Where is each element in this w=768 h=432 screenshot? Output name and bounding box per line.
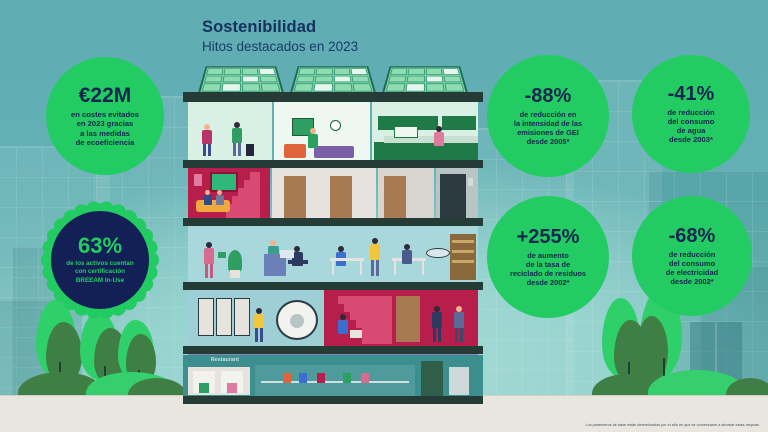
metric-description: de reducción del consumo de electricidad…: [666, 250, 719, 287]
metric-value: +255%: [517, 227, 580, 247]
footnote: Los parámetros de base están determinado…: [586, 423, 760, 427]
badge-description: de los activos cuentan con certificación…: [66, 260, 134, 284]
metric-description: de reducción en la intensidad de las emi…: [514, 110, 582, 146]
restaurant-facade: Restaurant: [183, 355, 483, 396]
floor-residential: [188, 102, 478, 160]
badge-inner-ring: 63% de los activos cuentan con certifica…: [49, 209, 151, 311]
building-cutaway: [188, 92, 478, 396]
metric-description: en costes evitados en 2023 gracias a las…: [71, 110, 139, 147]
floor-office: [188, 226, 478, 282]
metric-value: -41%: [668, 84, 715, 104]
metric-cost-savings[interactable]: €22M en costes evitados en 2023 gracias …: [46, 57, 164, 175]
metric-ghg-intensity[interactable]: -88% de reducción en la intensidad de la…: [487, 55, 609, 177]
metric-value: €22M: [79, 85, 132, 106]
floor-lobby: [188, 168, 478, 218]
metric-waste-recycling[interactable]: +255% de aumento de la tasa de reciclado…: [487, 196, 609, 318]
metric-description: de reducción del consumo de agua desde 2…: [667, 108, 714, 145]
infographic-canvas: Restaurant Sostenibilidad Hitos destacad…: [0, 0, 768, 432]
page-subtitle: Hitos destacados en 2023: [202, 39, 358, 54]
badge-breeam-certification[interactable]: 63% de los activos cuentan con certifica…: [40, 200, 160, 320]
metric-value: -68%: [669, 226, 716, 246]
badge-value: 63%: [78, 235, 122, 257]
metric-water-consumption[interactable]: -41% de reducción del consumo de agua de…: [632, 55, 750, 173]
metric-value: -88%: [525, 86, 572, 106]
page-title-block: Sostenibilidad Hitos destacados en 2023: [202, 18, 358, 54]
restaurant-sign-label: Restaurant: [211, 357, 239, 363]
metric-electricity-consumption[interactable]: -68% de reducción del consumo de electri…: [632, 196, 752, 316]
floor-technical: [188, 290, 478, 346]
page-title: Sostenibilidad: [202, 18, 358, 37]
metric-description: de aumento de la tasa de reciclado de re…: [510, 251, 586, 287]
